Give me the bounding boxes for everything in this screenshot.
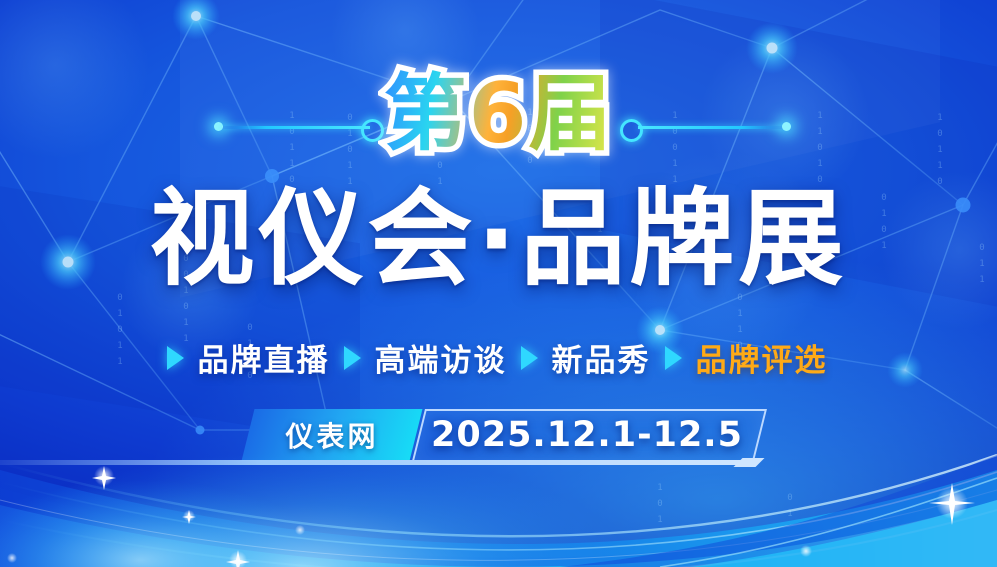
subtitle-item-interview: 高端访谈	[372, 335, 510, 380]
svg-text:0: 0	[787, 493, 792, 503]
banner-title: 视仪会·品牌展	[0, 183, 997, 296]
subtitle-item-brand-award: 品牌评选	[693, 335, 831, 380]
date-range-label: 2025.12.1-12.5	[418, 409, 756, 461]
subtitle-item-new-product-show: 新品秀	[549, 335, 654, 380]
subtitle-item-brand-live: 品牌直播	[195, 335, 333, 380]
svg-text:1: 1	[657, 483, 662, 493]
triangle-right-icon	[521, 346, 538, 370]
bottom-accent-strip	[0, 460, 745, 465]
site-tag-label: 仪表网	[248, 409, 416, 461]
triangle-right-icon	[344, 346, 361, 370]
date-bar: 仪表网 2025.12.1-12.5	[0, 409, 997, 461]
svg-text:1: 1	[657, 515, 662, 525]
subtitle-row: 品牌直播 高端访谈 新品秀 品牌评选	[0, 335, 997, 380]
triangle-right-icon	[665, 346, 682, 370]
edition-badge: 第6届 第6届	[0, 72, 997, 155]
event-banner: 01011 1001011 0110 10110 010110 1101 011…	[0, 0, 997, 567]
svg-text:0: 0	[657, 499, 662, 509]
triangle-right-icon	[167, 346, 184, 370]
svg-text:1: 1	[787, 509, 792, 519]
edition-badge-label: 第6届	[384, 65, 614, 162]
